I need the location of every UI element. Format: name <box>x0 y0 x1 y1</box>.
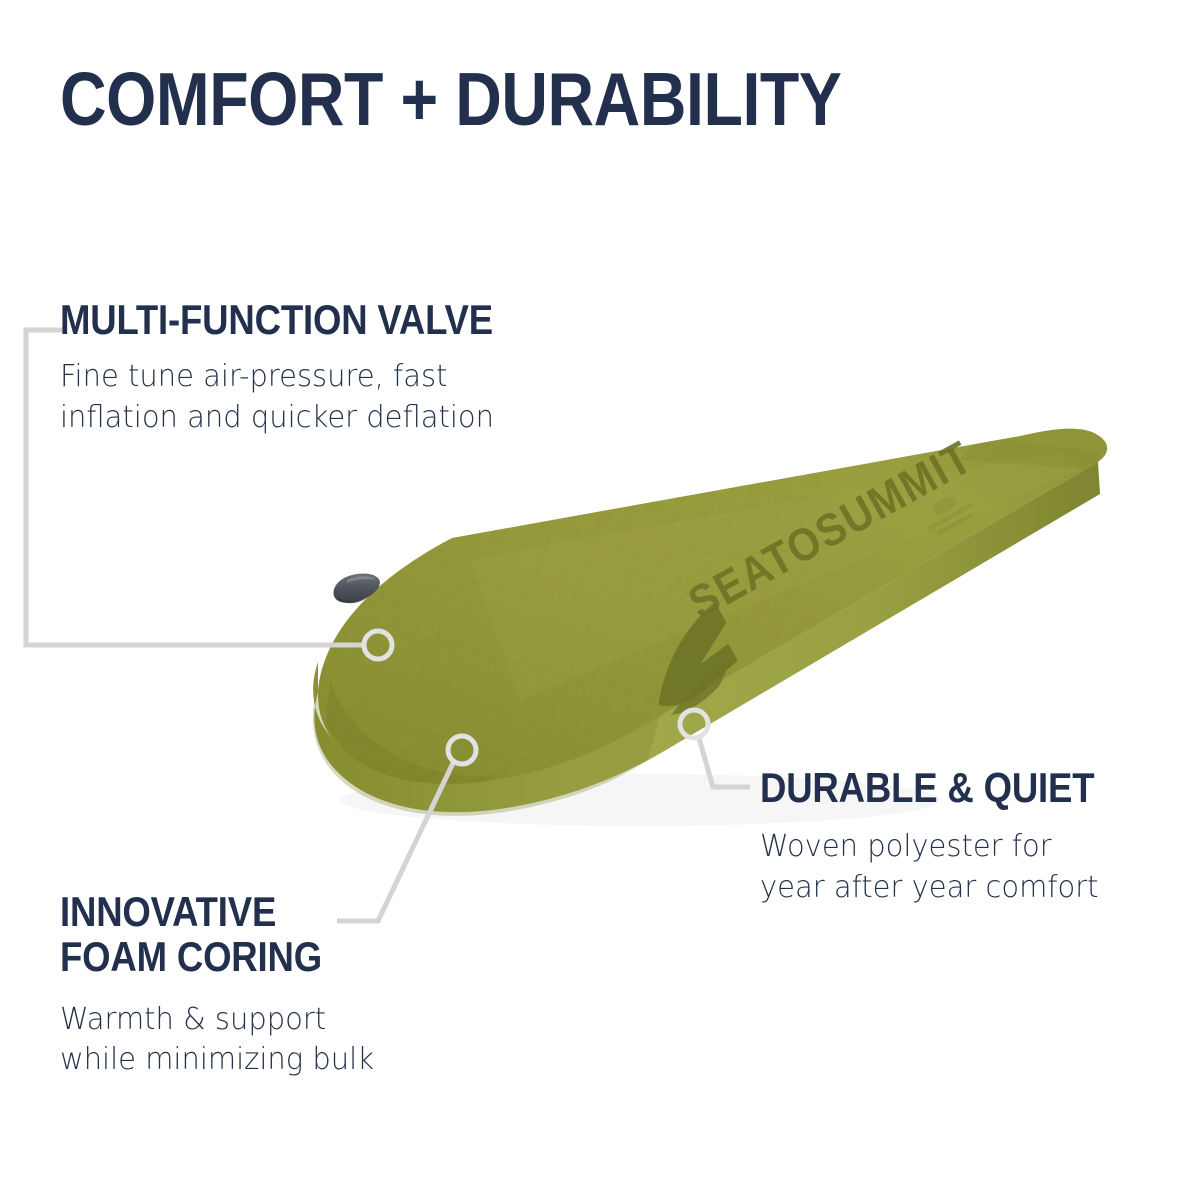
callout-title-durable: DURABLE & QUIET <box>760 766 1094 811</box>
callout-body-valve: Fine tune air-pressure, fast inflation a… <box>60 357 533 438</box>
callout-innovative-foam-coring: INNOVATIVEFOAM CORING Warmth & support w… <box>60 890 391 1081</box>
callout-title-foam: INNOVATIVEFOAM CORING <box>60 890 348 980</box>
infographic-page: SEATOSUMMIT <box>0 0 1200 1200</box>
callout-durable-and-quiet: DURABLE & QUIET Woven polyester for year… <box>760 766 1144 908</box>
page-title: COMFORT + DURABILITY <box>60 62 841 137</box>
callout-title-valve: MULTI-FUNCTION VALVE <box>60 298 493 343</box>
callout-multi-function-valve: MULTI-FUNCTION VALVE Fine tune air-press… <box>60 298 558 438</box>
callout-body-foam: Warmth & support while minimizing bulk <box>60 1000 374 1081</box>
callout-body-durable: Woven polyester for year after year comf… <box>760 827 1125 908</box>
